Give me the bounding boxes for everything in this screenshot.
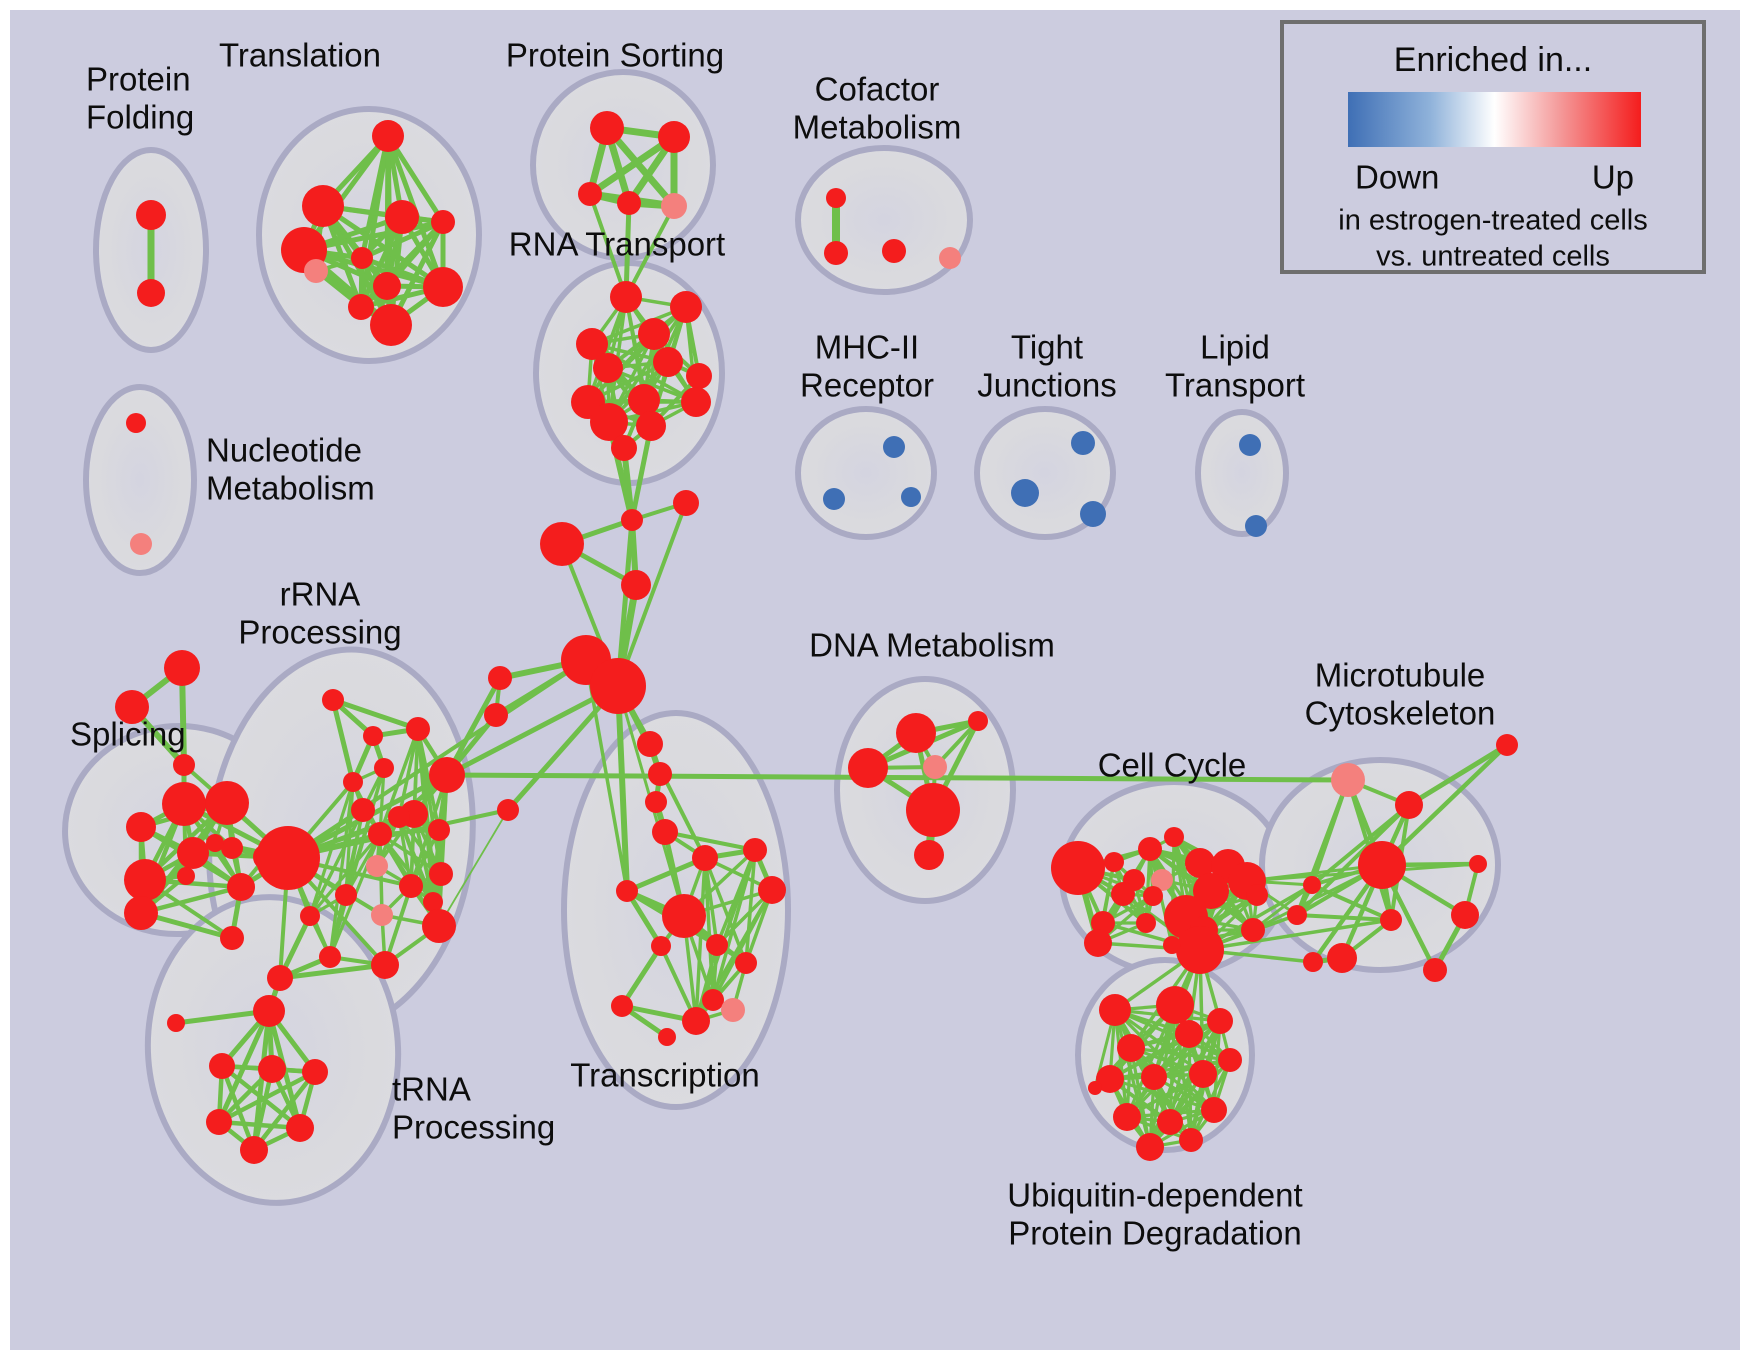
network-node[interactable] [173, 754, 195, 776]
network-node[interactable] [372, 120, 404, 152]
label-microtubule-l1: Microtubule [1315, 657, 1486, 694]
network-node[interactable] [304, 259, 328, 283]
network-node[interactable] [1207, 1008, 1233, 1034]
network-node[interactable] [253, 995, 285, 1027]
network-node[interactable] [300, 906, 320, 926]
network-node[interactable] [1380, 909, 1402, 931]
network-node[interactable] [374, 758, 394, 778]
network-node[interactable] [286, 1114, 314, 1142]
network-node[interactable] [617, 191, 641, 215]
network-node[interactable] [124, 859, 166, 901]
network-node[interactable] [901, 487, 921, 507]
label-trna-l1: tRNA [392, 1071, 471, 1108]
network-node[interactable] [616, 880, 638, 902]
network-node[interactable] [177, 837, 209, 869]
network-node[interactable] [1287, 905, 1307, 925]
label-trna-l2: Processing [392, 1109, 555, 1146]
network-node[interactable] [351, 798, 375, 822]
network-node[interactable] [1423, 958, 1447, 982]
network-node[interactable] [1239, 434, 1261, 456]
network-node[interactable] [322, 689, 344, 711]
network-node[interactable] [302, 1059, 328, 1085]
network-node[interactable] [130, 533, 152, 555]
label-lipid-l2: Transport [1165, 367, 1305, 404]
label-rrna-l2: Processing [238, 614, 401, 651]
label-lipid-l1: Lipid [1200, 329, 1270, 366]
network-node[interactable] [1246, 884, 1268, 906]
network-node[interactable] [1051, 841, 1105, 895]
network-node[interactable] [162, 782, 206, 826]
network-node[interactable] [267, 965, 293, 991]
network-node[interactable] [1156, 986, 1194, 1024]
network-node[interactable] [1189, 1060, 1217, 1088]
network-node[interactable] [1245, 515, 1267, 537]
label-rna-transport: RNA Transport [509, 226, 725, 263]
label-microtubule-l2: Cytoskeleton [1305, 695, 1496, 732]
label-rrna-l1: rRNA [280, 576, 361, 613]
network-node[interactable] [137, 279, 165, 307]
hull-cofactor-metabolism [798, 148, 970, 292]
label-protein-folding-l2: Folding [86, 99, 194, 136]
network-node[interactable] [206, 834, 224, 852]
legend-title: Enriched in... [1394, 41, 1592, 79]
network-node[interactable] [735, 952, 757, 974]
network-node[interactable] [590, 111, 624, 145]
network-node[interactable] [1179, 1128, 1203, 1152]
legend-caption-line1: in estrogen-treated cells [1338, 205, 1648, 237]
network-node[interactable] [702, 989, 724, 1011]
network-node[interactable] [126, 812, 156, 842]
label-tight-l2: Junctions [977, 367, 1116, 404]
network-node[interactable] [896, 713, 936, 753]
network-node[interactable] [1164, 827, 1184, 847]
network-node[interactable] [1136, 913, 1156, 933]
network-node[interactable] [692, 845, 718, 871]
network-node[interactable] [1099, 994, 1131, 1026]
label-tight-l1: Tight [1011, 329, 1083, 366]
network-node[interactable] [1088, 1081, 1102, 1095]
network-node[interactable] [1138, 837, 1162, 861]
network-node[interactable] [319, 946, 341, 968]
network-node[interactable] [653, 347, 683, 377]
network-node[interactable] [914, 840, 944, 870]
label-cofactor-l2: Metabolism [793, 109, 962, 146]
legend-low-label: Down [1355, 159, 1439, 196]
network-node[interactable] [1113, 1103, 1141, 1131]
network-node[interactable] [335, 884, 357, 906]
label-dna-metabolism: DNA Metabolism [809, 627, 1055, 664]
network-node[interactable] [1201, 1097, 1227, 1123]
network-node[interactable] [590, 658, 646, 714]
label-ubiquitin-l2: Protein Degradation [1008, 1215, 1302, 1252]
network-node[interactable] [126, 413, 146, 433]
network-node[interactable] [662, 894, 706, 938]
network-node[interactable] [826, 188, 846, 208]
network-node[interactable] [673, 490, 699, 516]
network-node[interactable] [1011, 479, 1039, 507]
network-node[interactable] [824, 241, 848, 265]
network-node[interactable] [670, 291, 702, 323]
network-node[interactable] [1241, 918, 1265, 942]
network-node[interactable] [371, 904, 393, 926]
network-node[interactable] [205, 781, 249, 825]
network-node[interactable] [621, 570, 651, 600]
label-nucleotide-l1: Nucleotide [206, 432, 362, 469]
network-node[interactable] [906, 783, 960, 837]
network-node[interactable] [1080, 501, 1106, 527]
network-canvas: Protein Folding Translation Protein Sort… [10, 10, 1740, 1350]
network-node[interactable] [1496, 734, 1518, 756]
network-node[interactable] [1084, 929, 1112, 957]
network-node[interactable] [658, 121, 690, 153]
network-node[interactable] [882, 239, 906, 263]
network-node[interactable] [1327, 943, 1357, 973]
label-nucleotide-l2: Metabolism [206, 470, 375, 507]
network-node[interactable] [939, 247, 961, 269]
network-node[interactable] [1141, 1064, 1167, 1090]
network-node[interactable] [240, 1136, 268, 1164]
network-node[interactable] [167, 1014, 185, 1032]
network-node[interactable] [422, 909, 456, 943]
label-protein-folding-l1: Protein [86, 61, 191, 98]
network-node[interactable] [652, 819, 678, 845]
network-node[interactable] [431, 210, 455, 234]
network-node[interactable] [177, 867, 195, 885]
network-node[interactable] [348, 294, 374, 320]
network-node[interactable] [848, 748, 888, 788]
label-cofactor-l1: Cofactor [815, 71, 940, 108]
legend-high-label: Up [1592, 159, 1634, 196]
network-node[interactable] [883, 436, 905, 458]
network-node[interactable] [1331, 763, 1365, 797]
network-node[interactable] [968, 711, 988, 731]
network-node[interactable] [164, 650, 200, 686]
network-node[interactable] [1143, 886, 1163, 906]
network-node[interactable] [1136, 1133, 1164, 1161]
network-node[interactable] [1303, 876, 1321, 894]
network-node[interactable] [621, 509, 643, 531]
label-mhc-l1: MHC-II [815, 329, 919, 366]
network-node[interactable] [220, 926, 244, 950]
network-node[interactable] [399, 874, 423, 898]
network-node[interactable] [423, 267, 463, 307]
network-node[interactable] [1218, 1048, 1242, 1072]
network-node[interactable] [302, 185, 344, 227]
network-node[interactable] [388, 806, 410, 828]
network-node[interactable] [258, 1055, 286, 1083]
network-node[interactable] [638, 318, 670, 350]
network-node[interactable] [578, 182, 602, 206]
legend-colorbar [1348, 92, 1641, 147]
network-node[interactable] [1104, 852, 1124, 872]
label-cell-cycle: Cell Cycle [1098, 747, 1247, 784]
network-node[interactable] [593, 353, 623, 383]
network-node[interactable] [136, 200, 166, 230]
network-node[interactable] [1358, 841, 1406, 889]
network-node[interactable] [540, 522, 584, 566]
label-translation: Translation [219, 37, 381, 74]
network-node[interactable] [1157, 1109, 1183, 1135]
network-node[interactable] [1176, 926, 1224, 974]
network-node[interactable] [368, 822, 392, 846]
network-node[interactable] [651, 936, 671, 956]
network-node[interactable] [206, 1109, 232, 1135]
network-node[interactable] [124, 896, 158, 930]
network-node[interactable] [1071, 431, 1095, 455]
legend: Enriched in... Down Up in estrogen-treat… [1282, 22, 1704, 273]
network-node[interactable] [611, 995, 633, 1017]
network-node[interactable] [385, 200, 419, 234]
legend-caption-line2: vs. untreated cells [1376, 241, 1610, 273]
network-node[interactable] [658, 1028, 676, 1046]
label-splicing: Splicing [70, 716, 186, 753]
network-node[interactable] [1303, 952, 1323, 972]
network-node[interactable] [406, 717, 430, 741]
network-node[interactable] [637, 731, 663, 757]
network-node[interactable] [256, 826, 320, 890]
network-node[interactable] [923, 755, 947, 779]
network-node[interactable] [682, 1007, 710, 1035]
hull-mhc-ii-receptor [798, 409, 934, 537]
network-node[interactable] [628, 384, 660, 416]
figure-root: Protein Folding Translation Protein Sort… [0, 0, 1750, 1360]
network-node[interactable] [371, 951, 399, 979]
network-node[interactable] [610, 281, 642, 313]
network-node[interactable] [370, 304, 412, 346]
network-node[interactable] [1395, 791, 1423, 819]
network-node[interactable] [428, 819, 450, 841]
network-node[interactable] [1111, 882, 1135, 906]
network-node[interactable] [681, 387, 711, 417]
hull-lipid-transport [1198, 412, 1286, 534]
label-ubiquitin-l1: Ubiquitin-dependent [1007, 1177, 1302, 1214]
network-node[interactable] [686, 363, 712, 389]
network-node[interactable] [373, 272, 401, 300]
network-node[interactable] [661, 193, 687, 219]
network-node[interactable] [1163, 936, 1181, 954]
network-node[interactable] [1451, 901, 1479, 929]
network-node[interactable] [221, 837, 243, 859]
network-node[interactable] [488, 666, 512, 690]
network-node[interactable] [366, 855, 388, 877]
network-node[interactable] [429, 757, 465, 793]
network-node[interactable] [209, 1053, 235, 1079]
network-node[interactable] [743, 838, 767, 862]
network-node[interactable] [758, 876, 786, 904]
network-node[interactable] [351, 247, 373, 269]
network-node[interactable] [636, 411, 666, 441]
network-node[interactable] [721, 998, 745, 1022]
network-node[interactable] [1175, 1020, 1203, 1048]
label-mhc-l2: Receptor [800, 367, 934, 404]
network-node[interactable] [706, 934, 728, 956]
network-node[interactable] [648, 762, 672, 786]
network-node[interactable] [363, 726, 383, 746]
network-node[interactable] [645, 791, 667, 813]
network-node[interactable] [343, 772, 363, 792]
network-node[interactable] [611, 435, 637, 461]
network-node[interactable] [429, 862, 453, 886]
network-node[interactable] [1469, 855, 1487, 873]
network-node[interactable] [227, 873, 255, 901]
label-transcription: Transcription [570, 1057, 760, 1094]
network-node[interactable] [1117, 1034, 1145, 1062]
network-node[interactable] [484, 703, 508, 727]
network-node[interactable] [423, 892, 443, 912]
label-protein-sorting: Protein Sorting [506, 37, 724, 74]
network-node[interactable] [823, 488, 845, 510]
network-node[interactable] [497, 799, 519, 821]
